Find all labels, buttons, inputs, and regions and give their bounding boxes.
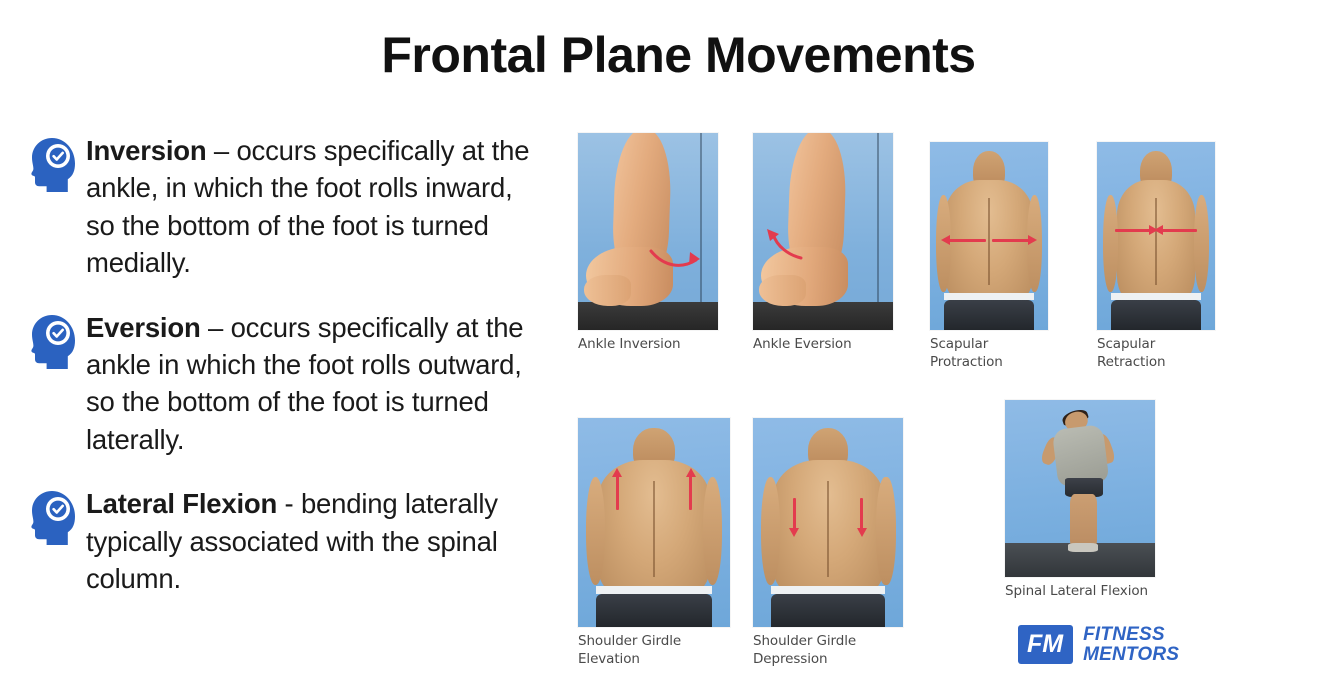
photo-spinal-lateral-flexion bbox=[1005, 400, 1155, 577]
slide-canvas: Frontal Plane Movements Inversion – occu… bbox=[0, 0, 1335, 691]
logo-word-line1: FITNESS bbox=[1083, 625, 1179, 645]
list-item-term: Lateral Flexion bbox=[86, 488, 277, 519]
figure-ankle-inversion: Ankle Inversion bbox=[578, 133, 718, 354]
photo-scapular-protraction bbox=[930, 142, 1048, 330]
list-item-dash: - bbox=[277, 488, 301, 519]
figure-spinal-lateral-flexion: Spinal Lateral Flexion bbox=[1005, 400, 1155, 601]
head-check-icon bbox=[28, 136, 76, 194]
logo-wordmark: FITNESS MENTORS bbox=[1083, 625, 1179, 665]
list-item-term: Eversion bbox=[86, 312, 201, 343]
head-check-icon bbox=[28, 489, 76, 547]
list-item: Eversion – occurs specifically at the an… bbox=[28, 309, 548, 459]
bullet-list: Inversion – occurs specifically at the a… bbox=[28, 132, 548, 624]
figure-shoulder-girdle-elevation: Shoulder Girdle Elevation bbox=[578, 418, 730, 669]
list-item-dash: – bbox=[201, 312, 231, 343]
figure-caption: Shoulder Girdle Depression bbox=[753, 633, 883, 669]
figure-ankle-eversion: Ankle Eversion bbox=[753, 133, 893, 354]
figure-caption: Spinal Lateral Flexion bbox=[1005, 583, 1155, 601]
photo-shoulder-girdle-elevation bbox=[578, 418, 730, 627]
figure-caption: Scapular Retraction bbox=[1097, 336, 1215, 372]
photo-scapular-retraction bbox=[1097, 142, 1215, 330]
logo-word-line2: MENTORS bbox=[1083, 645, 1179, 665]
page-title: Frontal Plane Movements bbox=[0, 26, 1335, 84]
figure-scapular-retraction: Scapular Retraction bbox=[1097, 142, 1215, 372]
list-item: Inversion – occurs specifically at the a… bbox=[28, 132, 548, 282]
head-check-icon bbox=[28, 313, 76, 371]
figure-caption: Shoulder Girdle Elevation bbox=[578, 633, 730, 669]
figure-scapular-protraction: Scapular Protraction bbox=[930, 142, 1048, 372]
list-item-dash: – bbox=[206, 135, 236, 166]
fitness-mentors-logo: FM FITNESS MENTORS bbox=[1018, 625, 1179, 665]
list-item-text: Eversion – occurs specifically at the an… bbox=[86, 309, 548, 459]
photo-shoulder-girdle-depression bbox=[753, 418, 903, 627]
list-item-text: Lateral Flexion - bending laterally typi… bbox=[86, 485, 548, 597]
list-item-term: Inversion bbox=[86, 135, 206, 166]
figure-caption: Scapular Protraction bbox=[930, 336, 1048, 372]
list-item: Lateral Flexion - bending laterally typi… bbox=[28, 485, 548, 597]
figure-caption: Ankle Inversion bbox=[578, 336, 718, 354]
photo-ankle-inversion bbox=[578, 133, 718, 330]
figure-shoulder-girdle-depression: Shoulder Girdle Depression bbox=[753, 418, 883, 669]
photo-ankle-eversion bbox=[753, 133, 893, 330]
figure-caption: Ankle Eversion bbox=[753, 336, 893, 354]
logo-badge: FM bbox=[1018, 625, 1073, 664]
list-item-text: Inversion – occurs specifically at the a… bbox=[86, 132, 548, 282]
